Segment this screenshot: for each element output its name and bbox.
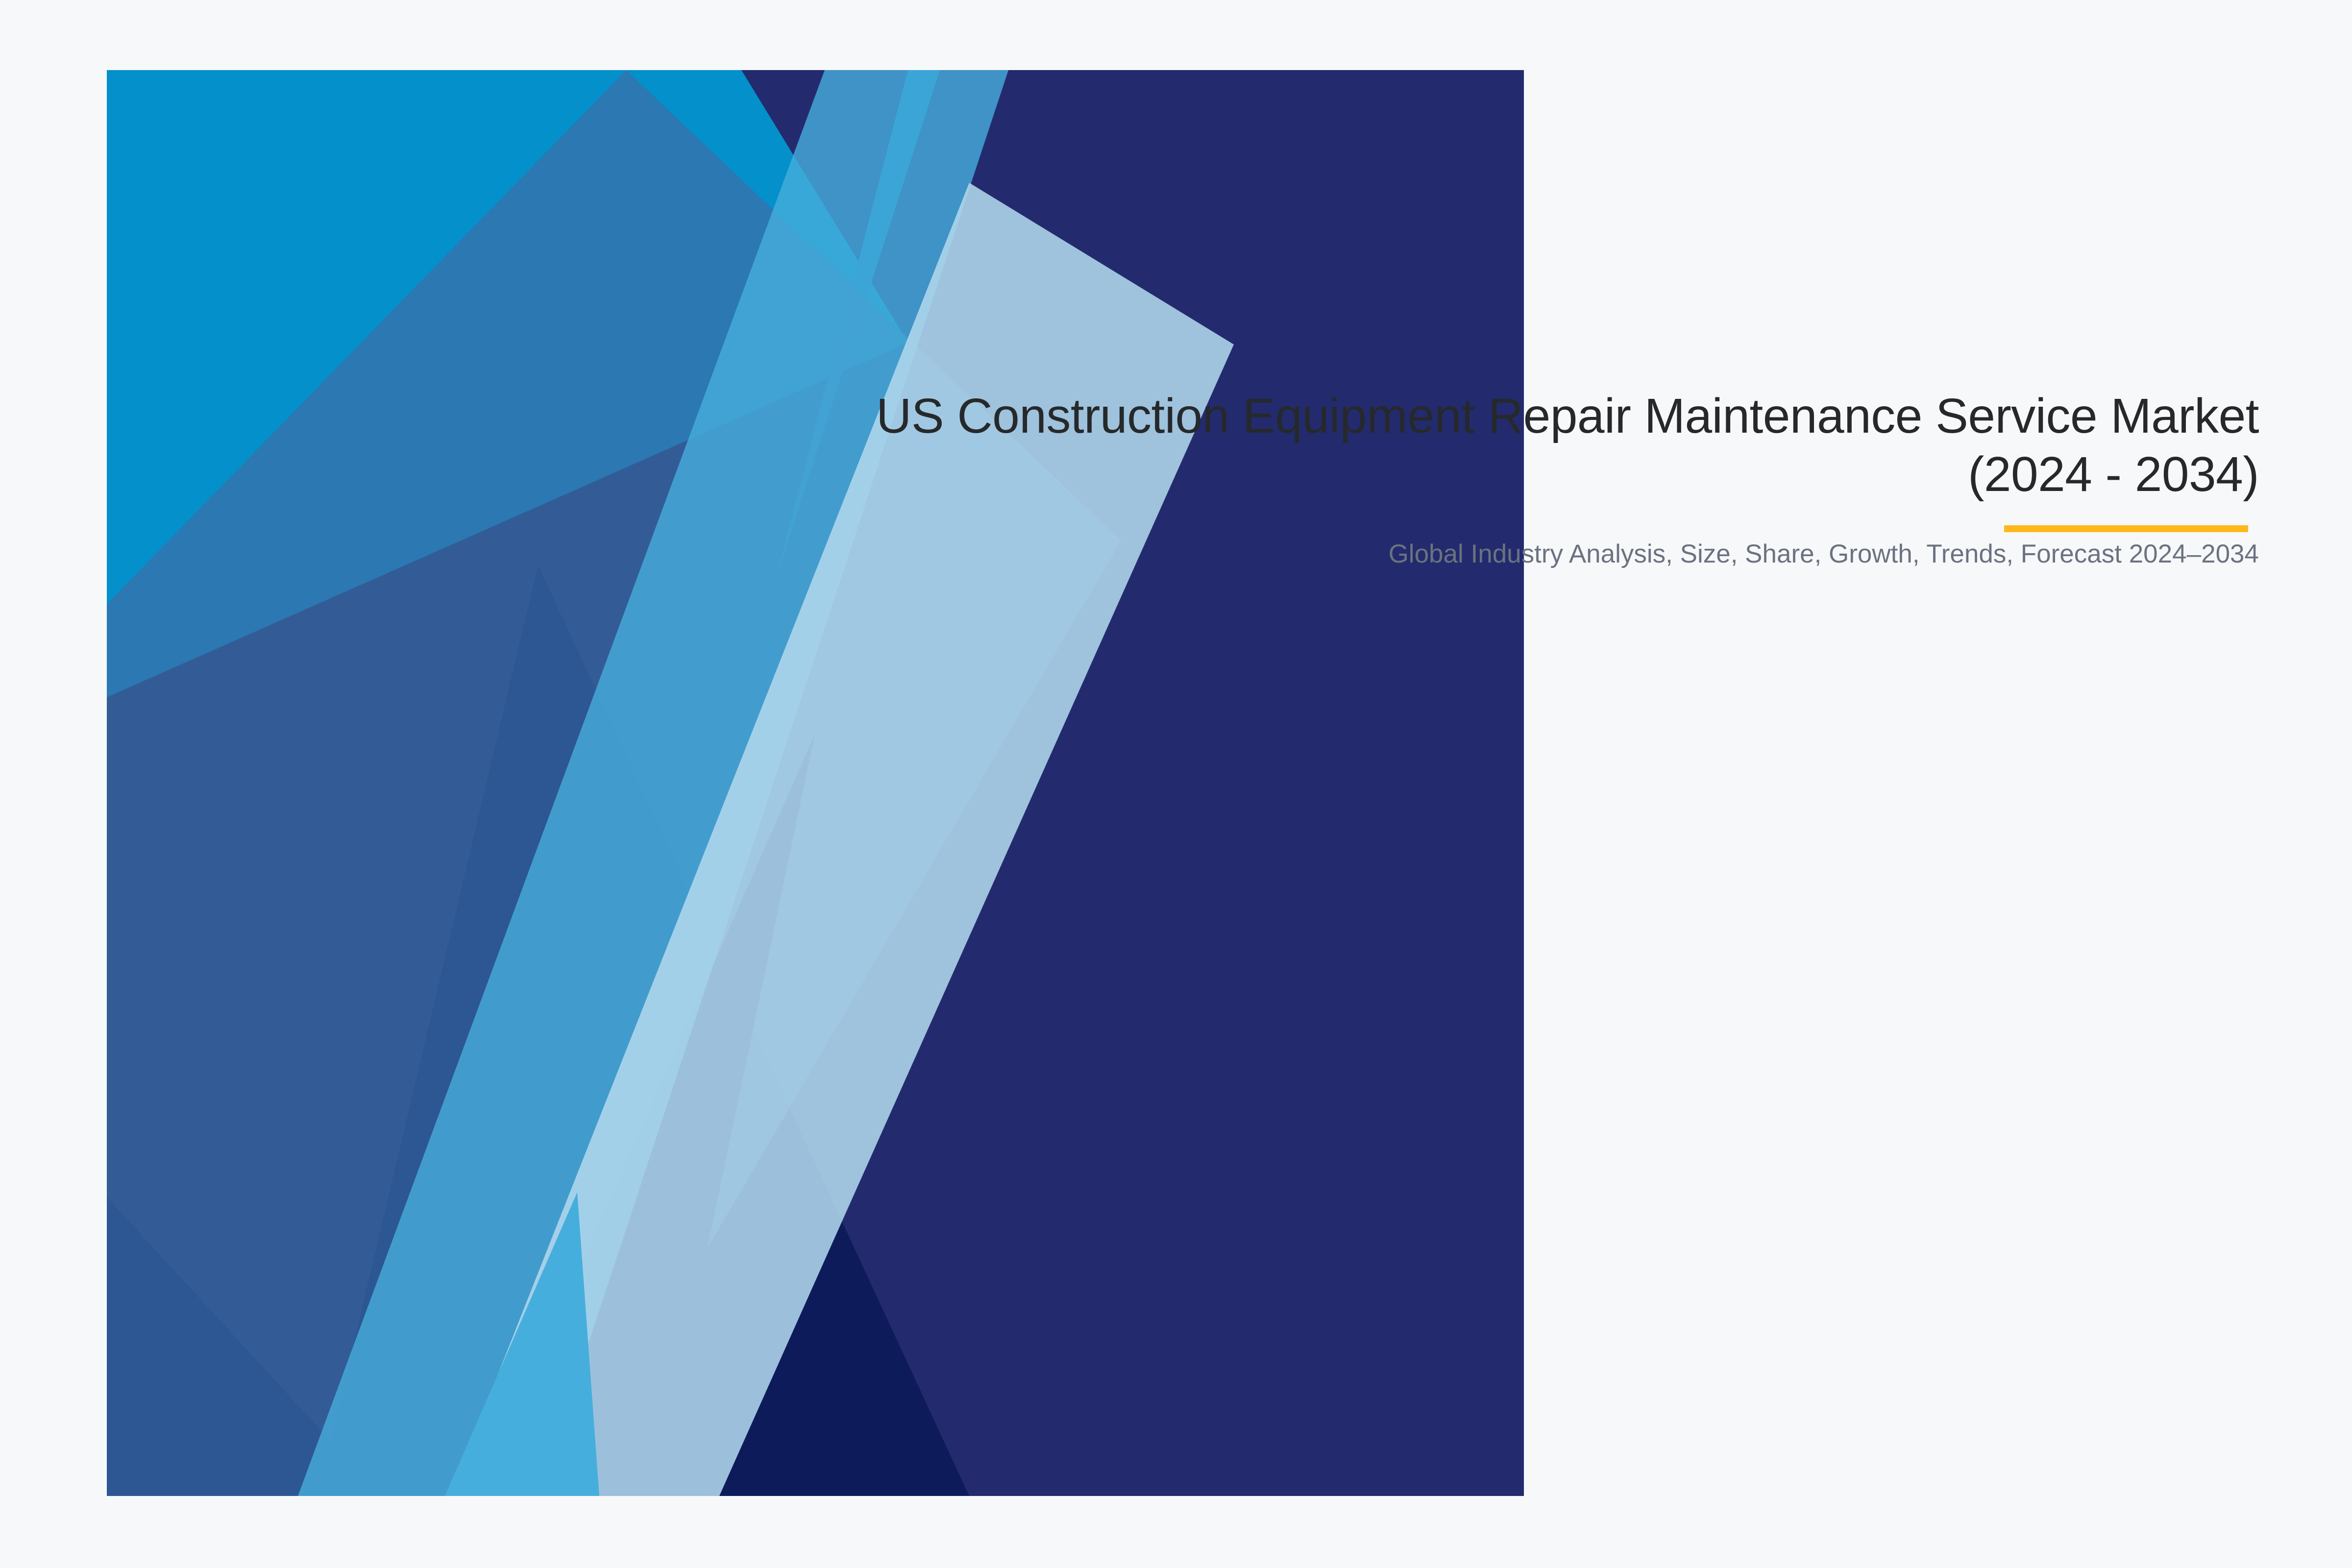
page-subtitle: Global Industry Analysis, Size, Share, G… [872, 504, 2259, 572]
title-block: US Construction Equipment Repair Mainten… [872, 387, 2259, 572]
page-title: US Construction Equipment Repair Mainten… [872, 387, 2259, 504]
cover-artwork [107, 70, 1524, 1496]
title-accent-underline [2004, 525, 2248, 532]
abstract-polygon-graphic [107, 70, 1524, 1496]
cover-slide: US Construction Equipment Repair Mainten… [0, 0, 2352, 1568]
